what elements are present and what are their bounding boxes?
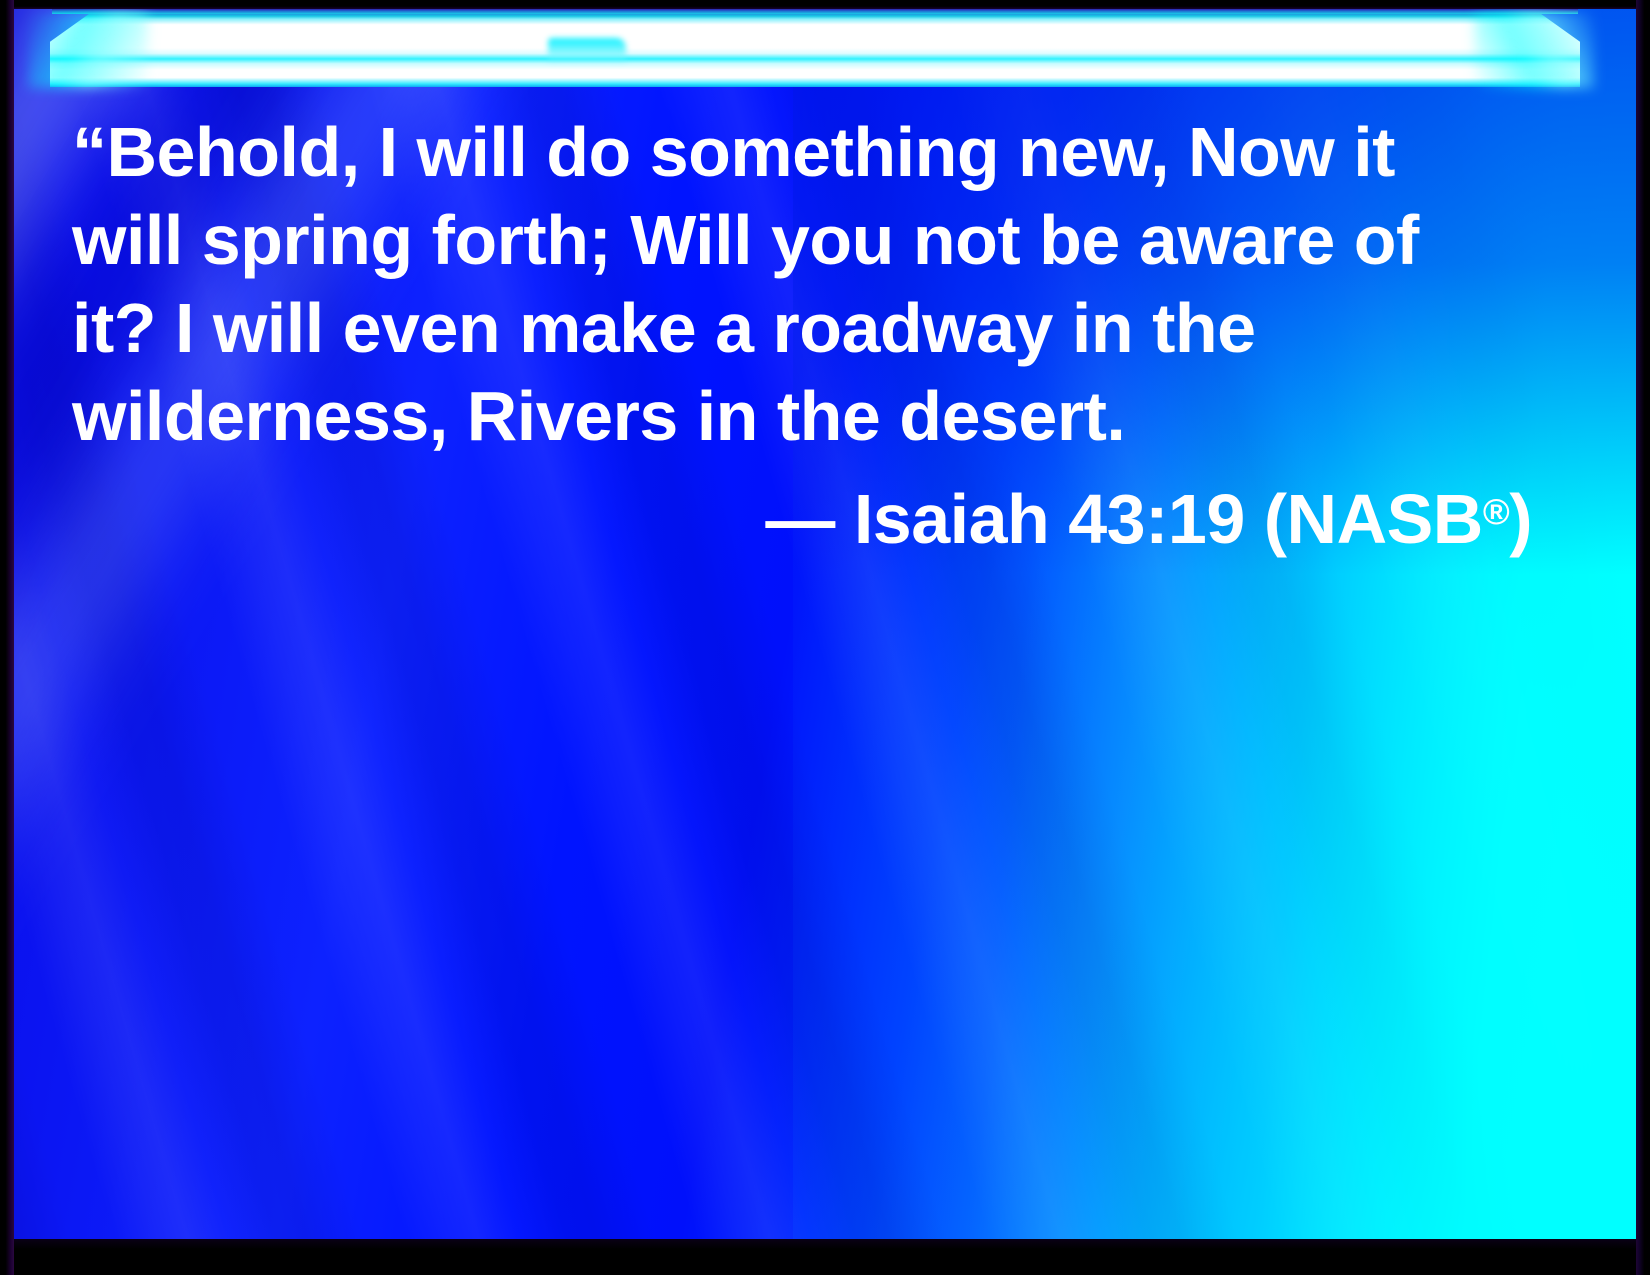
frame-border-right [1636, 0, 1650, 1275]
banner-cyan-notch [548, 38, 626, 64]
attribution-prefix: — Isaiah 43:19 (NASB [765, 480, 1482, 558]
verse-line-3: it? I will even make a roadway in the [72, 284, 1542, 372]
verse-attribution: — Isaiah 43:19 (NASB®) [72, 460, 1542, 563]
verse-line-4: wilderness, Rivers in the desert. [72, 372, 1542, 460]
banner-glow-right [1474, 12, 1594, 88]
banner-top-hairline [52, 9, 1578, 14]
scripture-slide: “Behold, I will do something new, Now it… [0, 0, 1650, 1275]
verse-line-1: “Behold, I will do something new, Now it [72, 108, 1542, 196]
attribution-suffix: ) [1509, 480, 1532, 558]
banner-glow-left [28, 12, 148, 88]
top-banner [0, 0, 1622, 110]
verse-line-2: will spring forth; Will you not be aware… [72, 196, 1542, 284]
frame-border-bottom [0, 1239, 1650, 1275]
frame-border-left [0, 0, 14, 1275]
banner-bar [50, 9, 1580, 87]
registered-trademark-icon: ® [1483, 491, 1509, 532]
verse-text-block: “Behold, I will do something new, Now it… [72, 108, 1542, 563]
